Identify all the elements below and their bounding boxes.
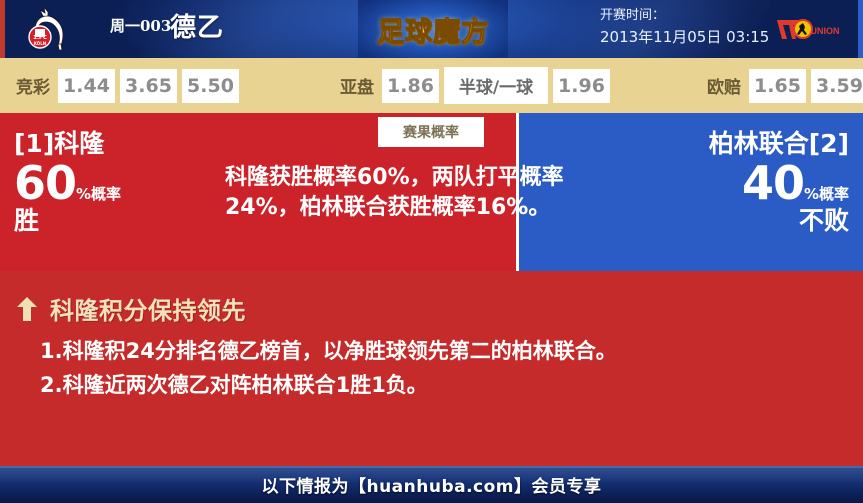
footer-text-prefix: 以下情报为【 [261, 477, 366, 497]
home-team-name: [1]科隆 [14, 131, 224, 156]
probability-tab[interactable]: 赛果概率 [378, 117, 484, 147]
brand-logo: 足球魔方 [358, 0, 508, 58]
league-name: 德乙 [170, 7, 224, 44]
match-preview-card: 1.FC KÖLN 周一003 德乙 足球魔方 开赛时间： 2013年11月05… [0, 0, 863, 503]
odds-group-asian-handicap: 亚盘 1.86 半球/一球 1.96 [340, 67, 615, 104]
away-probability-value: 40 [742, 156, 804, 210]
arrow-up-icon [16, 296, 38, 322]
footer-url[interactable]: huanhuba.com [366, 477, 514, 497]
home-probability-block: [1]科隆 60%概率 胜 [14, 131, 224, 233]
handicap-odds-home[interactable]: 1.86 [382, 69, 439, 103]
odds-value-home[interactable]: 1.44 [58, 69, 115, 103]
header-bar: 1.FC KÖLN 周一003 德乙 足球魔方 开赛时间： 2013年11月05… [0, 0, 863, 58]
kickoff-time: 2013年11月05日 03:15 [600, 26, 780, 49]
insight-title: 科隆积分保持领先 [50, 291, 246, 326]
union-berlin-crest-icon: UNION [773, 12, 847, 46]
away-team-name: 柏林联合[2] [619, 131, 849, 156]
odds-group-label: 亚盘 [340, 73, 374, 98]
kickoff-block: 开赛时间： 2013年11月05日 03:15 [600, 6, 780, 49]
footer-divider [0, 466, 863, 468]
home-outcome-label: 胜 [14, 208, 224, 233]
odds-value-draw[interactable]: 3.65 [120, 69, 177, 103]
probability-summary-line-1: 科隆获胜概率60%，两队打平概率 [225, 163, 645, 193]
brand-text: 足球魔方 [377, 10, 489, 49]
header-right-accent [858, 0, 863, 58]
insight-header: 科隆积分保持领先 [16, 291, 246, 326]
header-left-accent [0, 0, 5, 58]
round-label: 周一003 [110, 15, 171, 36]
footer-text: 以下情报为【huanhuba.com】会员专享 [261, 472, 601, 497]
footer-bar: 以下情报为【huanhuba.com】会员专享 [0, 466, 863, 503]
odds-group-jingcai: 竞彩 1.44 3.65 5.50 [16, 69, 244, 103]
fc-koln-crest-icon: 1.FC KÖLN [18, 4, 82, 54]
probability-panel: 赛果概率 [1]科隆 60%概率 胜 柏林联合[2] 40%概率 不败 科隆获胜… [0, 113, 863, 271]
footer-text-suffix: 】会员专享 [514, 477, 602, 497]
away-outcome-label: 不败 [619, 208, 849, 233]
svg-text:UNION: UNION [811, 26, 840, 36]
home-probability-value: 60 [14, 156, 76, 210]
home-probability-suffix: %概率 [76, 185, 121, 203]
handicap-odds-away[interactable]: 1.96 [553, 69, 610, 103]
kickoff-label: 开赛时间： [600, 6, 780, 26]
insight-section: 科隆积分保持领先 1.科隆积24分排名德乙榜首，以净胜球领先第二的柏林联合。 2… [0, 271, 863, 466]
odds-group-european: 欧赔 1.65 3.59 4.88 [707, 69, 863, 103]
handicap-line[interactable]: 半球/一球 [444, 67, 548, 104]
svg-text:KÖLN: KÖLN [34, 41, 46, 46]
probability-summary: 科隆获胜概率60%，两队打平概率 24%，柏林联合获胜概率16%。 [225, 163, 645, 224]
probability-summary-line-2: 24%，柏林联合获胜概率16%。 [225, 193, 645, 223]
euro-odds-home[interactable]: 1.65 [749, 69, 806, 103]
insight-list: 1.科隆积24分排名德乙榜首，以净胜球领先第二的柏林联合。 2.科隆近两次德乙对… [40, 334, 840, 402]
odds-value-away[interactable]: 5.50 [182, 69, 239, 103]
list-item: 1.科隆积24分排名德乙榜首，以净胜球领先第二的柏林联合。 [40, 334, 840, 368]
odds-group-label: 欧赔 [707, 73, 741, 98]
euro-odds-draw[interactable]: 3.59 [811, 69, 863, 103]
away-probability-suffix: %概率 [804, 185, 849, 203]
odds-bar: 竞彩 1.44 3.65 5.50 亚盘 1.86 半球/一球 1.96 欧赔 … [0, 58, 863, 113]
list-item: 2.科隆近两次德乙对阵柏林联合1胜1负。 [40, 368, 840, 402]
odds-group-label: 竞彩 [16, 73, 50, 98]
away-probability-block: 柏林联合[2] 40%概率 不败 [619, 131, 849, 233]
